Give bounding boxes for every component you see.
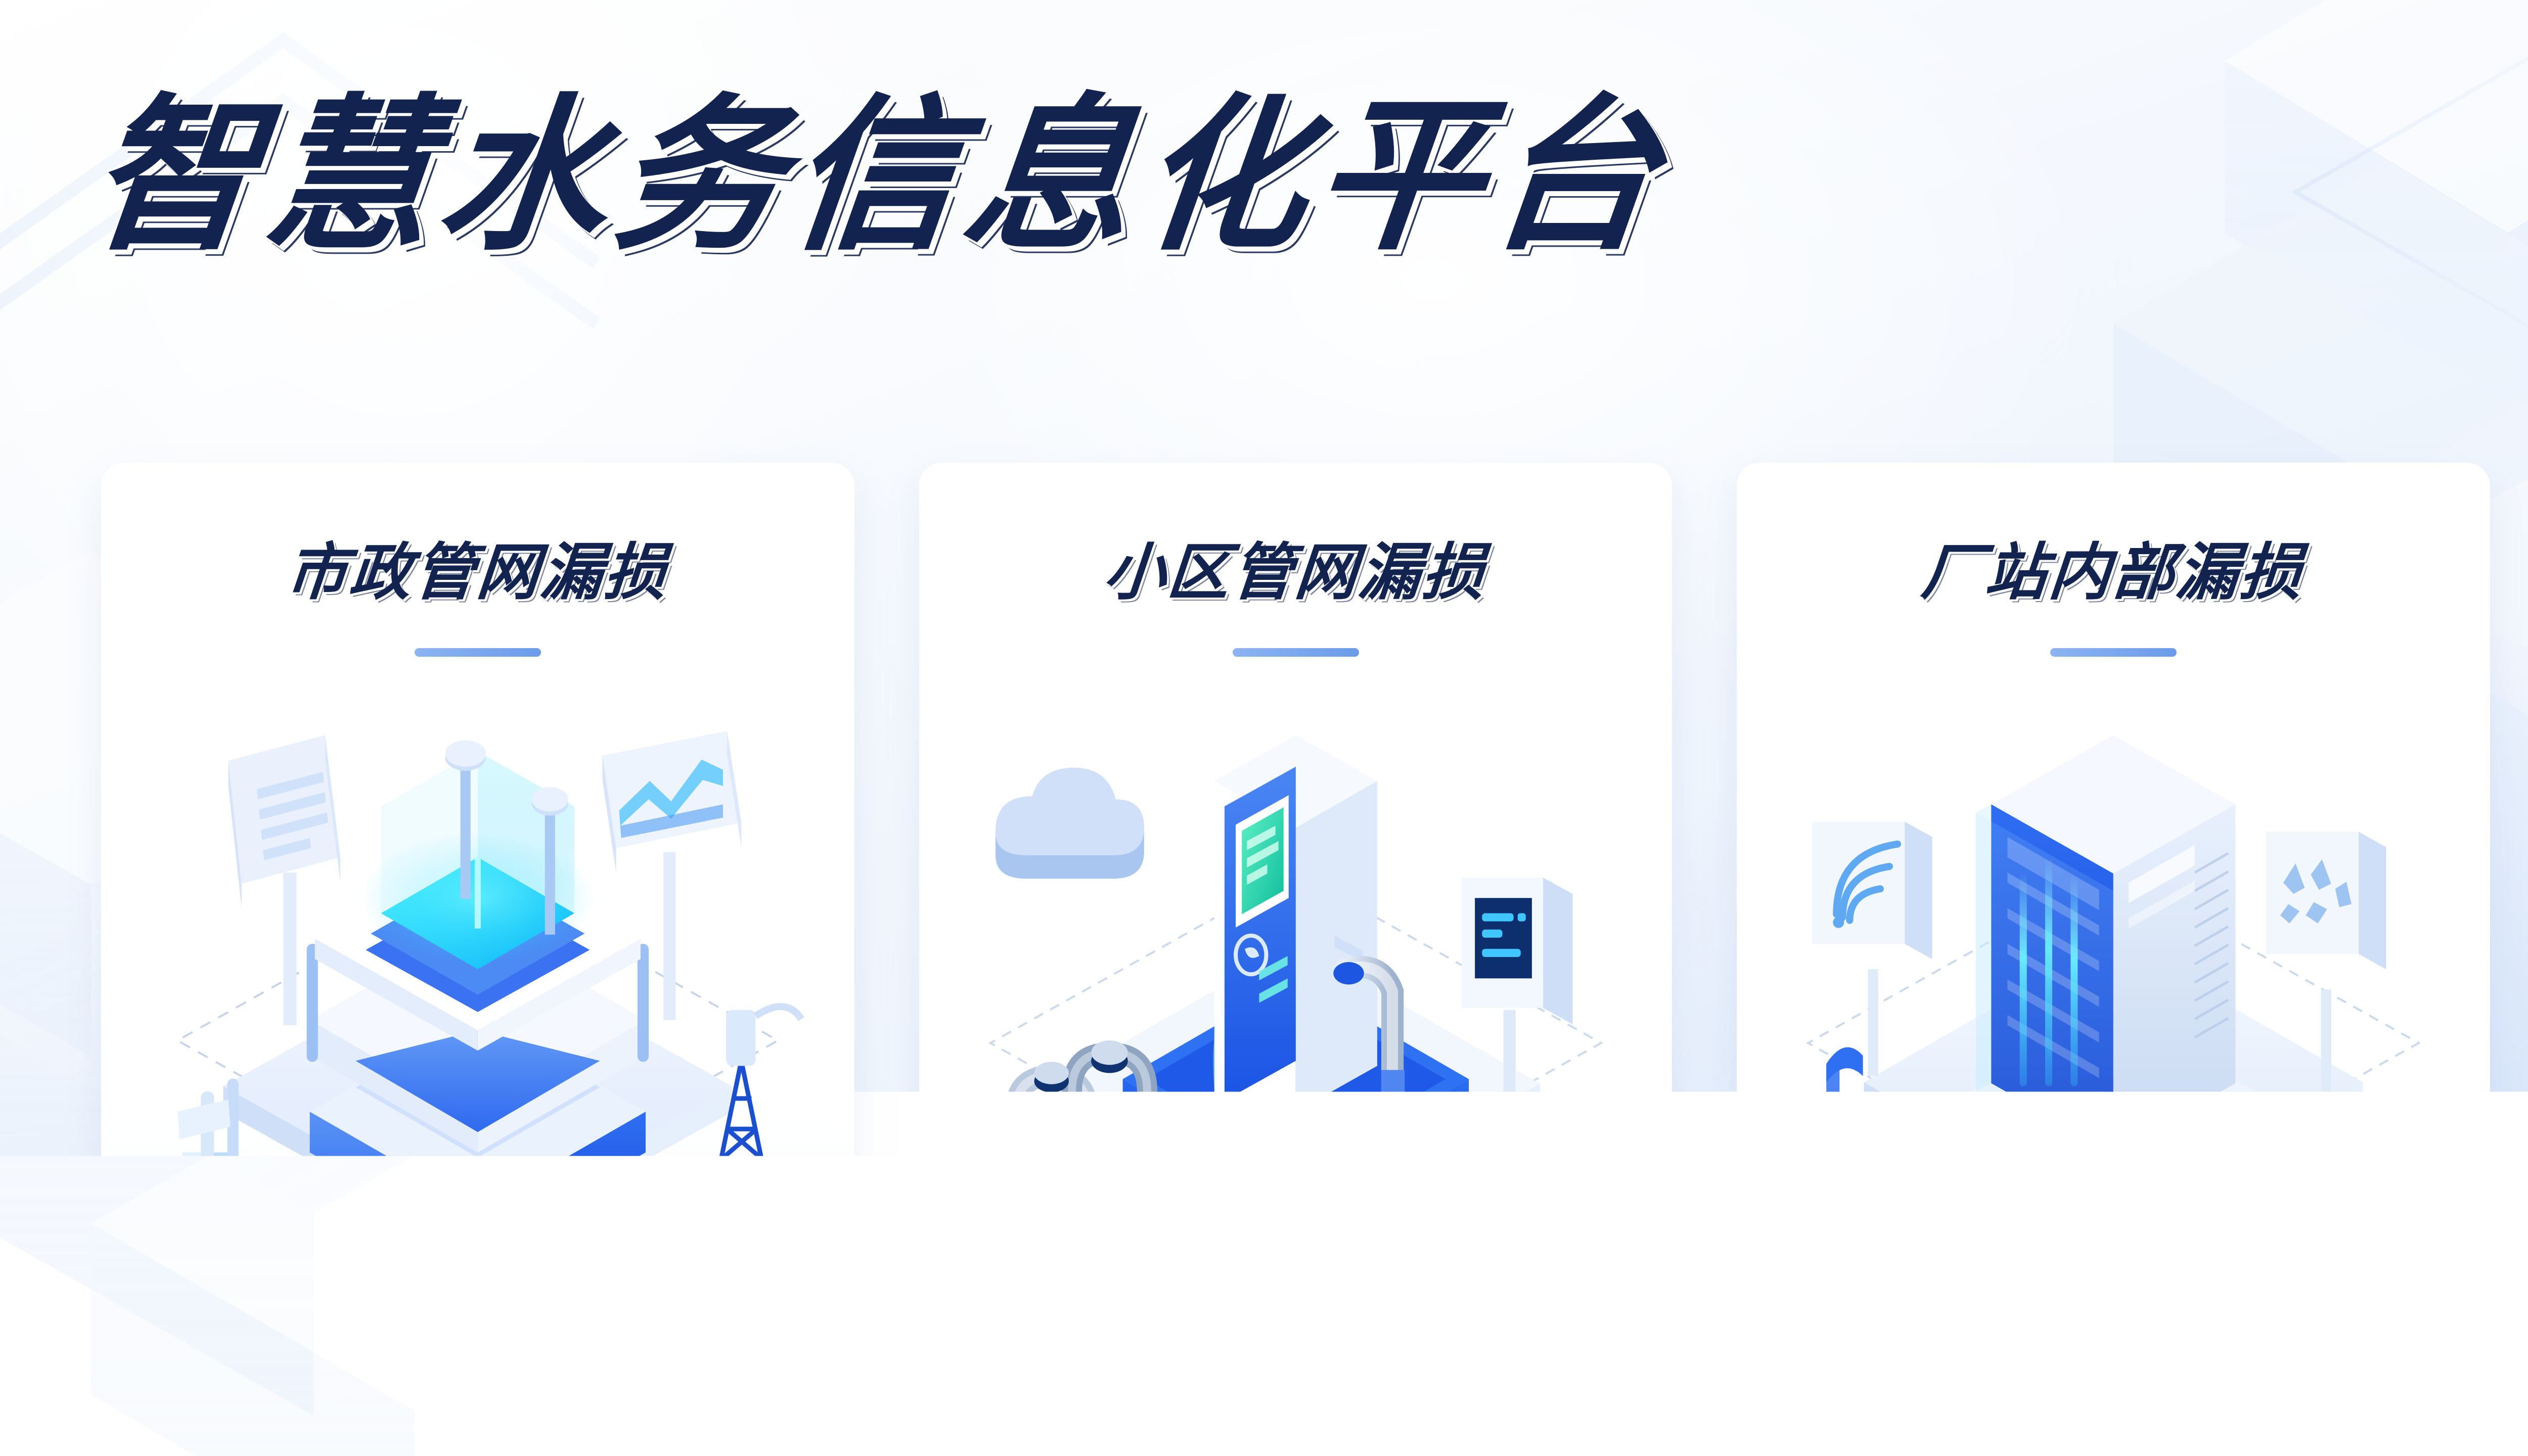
- card-divider: [1233, 648, 1359, 657]
- illustration-municipal: [101, 680, 854, 1314]
- card-row: 市政管网漏损: [101, 463, 2490, 1345]
- card-title: 厂站内部漏损: [1737, 522, 2490, 612]
- cloud-icon: [996, 768, 1144, 879]
- isometric-pump-kiosk-illustration: [919, 680, 1673, 1314]
- card-title: 小区管网漏损: [919, 522, 1673, 612]
- pipe-valve-group-left: [1016, 1040, 1165, 1165]
- document-panel-icon: [229, 735, 340, 1025]
- card-community-pipe-network-loss[interactable]: 小区管网漏损: [919, 463, 1673, 1345]
- card-title: 市政管网漏损: [101, 522, 854, 612]
- poster-canvas: 智慧水务信息化平台 市政管网漏损: [0, 0, 2528, 1456]
- title-block: 智慧水务信息化平台: [0, 91, 2528, 261]
- meter-device-icon: [2304, 1119, 2473, 1314]
- isometric-platform-illustration: [101, 680, 854, 1314]
- card-municipal-pipe-network-loss[interactable]: 市政管网漏损: [101, 463, 854, 1345]
- illustration-plant-station: [1737, 680, 2490, 1314]
- page-title: 智慧水务信息化平台: [82, 91, 2528, 261]
- isometric-server-cabinet-illustration: [1737, 680, 2490, 1314]
- card-divider: [415, 648, 541, 657]
- card-plant-station-internal-loss[interactable]: 厂站内部漏损: [1737, 463, 2490, 1345]
- wifi-signal-panel: [1812, 806, 1932, 1076]
- transmission-tower-icon: [650, 1007, 833, 1314]
- illustration-community: [919, 680, 1673, 1314]
- chart-panel-icon: [602, 731, 741, 1020]
- card-divider: [2050, 648, 2177, 657]
